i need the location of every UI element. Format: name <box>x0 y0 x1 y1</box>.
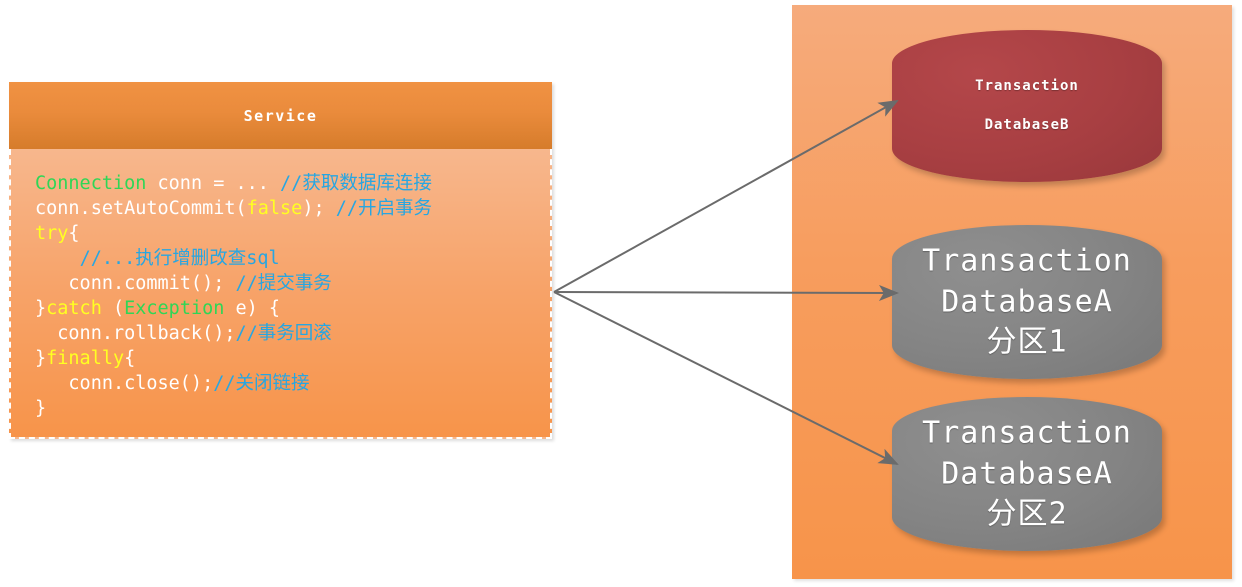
code-token: //...执行增删改查sql <box>80 248 280 269</box>
code-token: Connection <box>35 173 146 194</box>
code-token: catch <box>46 298 102 319</box>
code-token: conn.close(); <box>35 373 213 394</box>
cylinder-label: Transaction DatabaseA 分区1 <box>892 241 1162 363</box>
code-token: false <box>247 198 303 219</box>
code-token: } <box>35 398 46 419</box>
code-token: conn.rollback(); <box>35 323 235 344</box>
code-line: conn.rollback();//事务回滚 <box>35 321 550 346</box>
code-token: { <box>124 348 135 369</box>
code-token: //获取数据库连接 <box>280 173 432 194</box>
code-line: //...执行增删改查sql <box>35 246 550 271</box>
service-code-block: Connection conn = ... //获取数据库连接conn.setA… <box>35 171 550 421</box>
code-line: }catch (Exception e) { <box>35 296 550 321</box>
code-line: conn.setAutoCommit(false); //开启事务 <box>35 196 550 221</box>
code-token: try <box>35 223 68 244</box>
service-box-body: Connection conn = ... //获取数据库连接conn.setA… <box>9 149 552 439</box>
code-token: } <box>35 348 46 369</box>
code-line: }finally{ <box>35 346 550 371</box>
code-token: conn.setAutoCommit( <box>35 198 247 219</box>
cylinder-label: Transaction DatabaseA 分区2 <box>892 413 1162 535</box>
service-box-header: Service <box>9 82 552 149</box>
code-token: finally <box>46 348 124 369</box>
code-token: e) { <box>224 298 280 319</box>
code-token <box>35 248 80 269</box>
code-line: } <box>35 396 550 421</box>
code-token: //事务回滚 <box>235 323 331 344</box>
database-cylinder-transaction-database-b[interactable]: Transaction DatabaseB <box>892 30 1162 182</box>
code-token: conn = ... <box>146 173 280 194</box>
code-token: } <box>35 298 46 319</box>
code-line: Connection conn = ... //获取数据库连接 <box>35 171 550 196</box>
cylinder-label: Transaction DatabaseB <box>892 67 1162 145</box>
code-token: ); <box>302 198 335 219</box>
database-cylinder-transaction-database-a-partition-2[interactable]: Transaction DatabaseA 分区2 <box>892 397 1162 551</box>
database-cylinder-transaction-database-a-partition-1[interactable]: Transaction DatabaseA 分区1 <box>892 225 1162 379</box>
code-token: ( <box>102 298 124 319</box>
service-box[interactable]: Service Connection conn = ... //获取数据库连接c… <box>9 82 552 439</box>
database-panel: Transaction DatabaseB Transaction Databa… <box>792 5 1232 579</box>
code-line: conn.commit(); //提交事务 <box>35 271 550 296</box>
code-token: Exception <box>124 298 224 319</box>
code-token: { <box>68 223 79 244</box>
code-token: conn.commit(); <box>35 273 235 294</box>
code-line: try{ <box>35 221 550 246</box>
code-token: //提交事务 <box>235 273 331 294</box>
code-token: //开启事务 <box>336 198 432 219</box>
code-line: conn.close();//关闭链接 <box>35 371 550 396</box>
code-token: //关闭链接 <box>213 373 309 394</box>
